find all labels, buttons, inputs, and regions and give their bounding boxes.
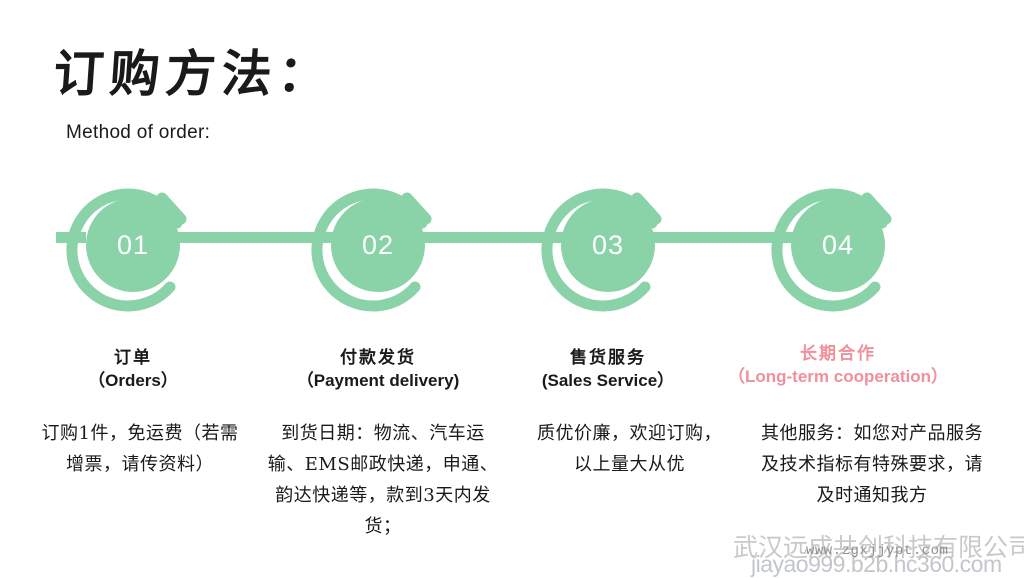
step-number: 01 (86, 198, 180, 292)
page-title: 订购方法： (51, 34, 336, 106)
flow-step-01[interactable]: 01 (58, 170, 208, 320)
page-subtitle: Method of order: (66, 122, 210, 144)
caption-cn: 付款发货 (248, 347, 508, 369)
caption-en: （Payment delivery) (248, 369, 508, 393)
caption-en: （Long-term cooperation） (708, 365, 968, 389)
step-caption-02: 付款发货 （Payment delivery) (248, 347, 508, 393)
caption-cn: 订单 (3, 347, 263, 369)
flow-step-02[interactable]: 02 (303, 170, 453, 320)
caption-en: (Sales Service） (478, 369, 738, 393)
step-number: 03 (561, 198, 655, 292)
step-body-03: 质优价廉，欢迎订购，以上量大从优 (532, 418, 727, 480)
watermark-url-primary: www.zgxjjypt.com (806, 543, 948, 559)
step-caption-01: 订单 （Orders） (3, 347, 263, 393)
step-body-04: 其他服务：如您对产品服务及技术指标有特殊要求，请及时通知我方 (757, 418, 987, 511)
caption-en: （Orders） (3, 369, 263, 393)
flow-step-03[interactable]: 03 (533, 170, 683, 320)
step-number: 04 (791, 198, 885, 292)
step-body-01: 订购1件，免运费（若需增票，请传资料） (40, 418, 240, 480)
caption-cn: 长期合作 (708, 343, 968, 365)
caption-cn: 售货服务 (478, 347, 738, 369)
step-body-02: 到货日期：物流、汽车运输、EMS邮政快递，申通、韵达快递等，款到3天内发货； (263, 418, 503, 542)
step-caption-03: 售货服务 (Sales Service） (478, 347, 738, 393)
step-caption-04: 长期合作 （Long-term cooperation） (708, 343, 968, 389)
step-number: 02 (331, 198, 425, 292)
flow-step-04[interactable]: 04 (763, 170, 913, 320)
slide-canvas: 订购方法： Method of order: 01 02 (0, 0, 1024, 576)
process-flow-diagram: 01 02 03 04 (0, 170, 1024, 320)
